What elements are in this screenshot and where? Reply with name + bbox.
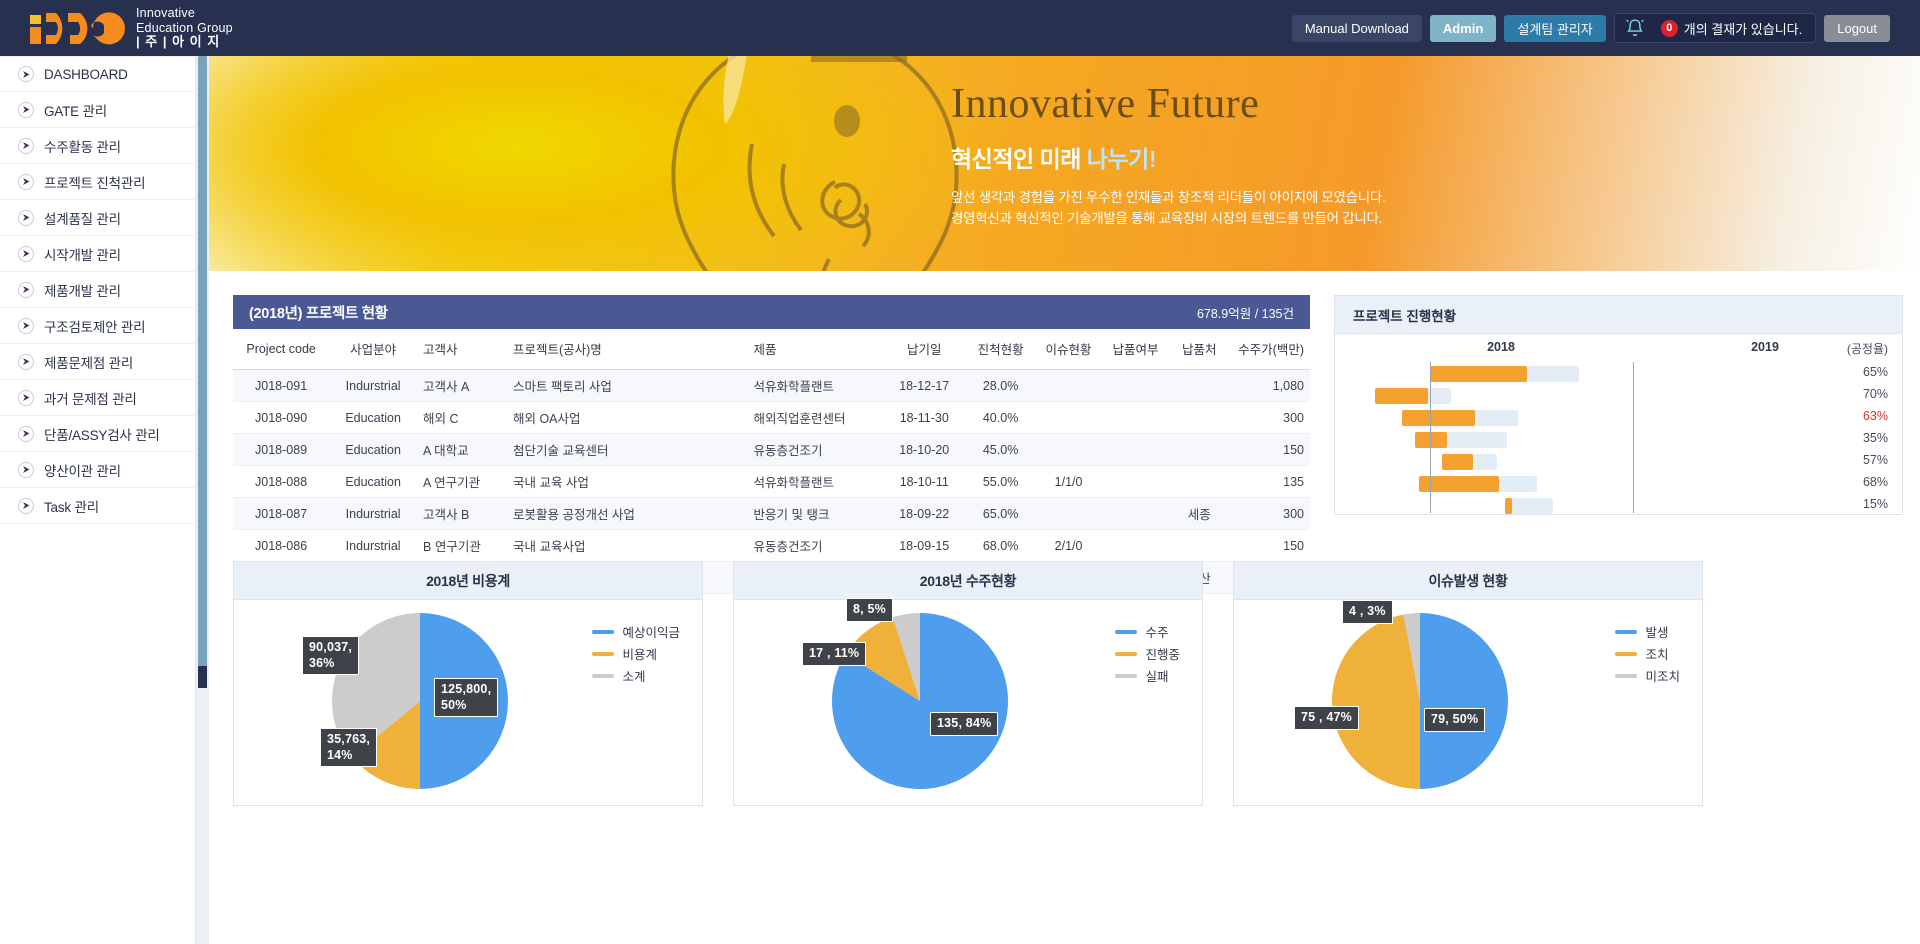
sidebar-item-12[interactable]: Task 관리 <box>0 488 195 524</box>
pie-svg <box>820 608 1020 798</box>
legend-swatch <box>592 630 614 634</box>
gantt-progress-label: 68% <box>1863 475 1888 489</box>
table-row[interactable]: J018-091Indurstrial고객사 A스마트 팩토리 사업석유화학플랜… <box>233 370 1310 402</box>
gantt-progress-label: 35% <box>1863 431 1888 445</box>
cell-field: Indurstrial <box>329 498 417 530</box>
page-filler <box>209 892 1920 944</box>
cell-price: 300 <box>1229 402 1310 434</box>
gantt-year-end: 2019 <box>1751 340 1779 354</box>
sidebar-item-label: Task 관리 <box>44 496 99 516</box>
sidebar-item-label: 시작개발 관리 <box>44 244 121 264</box>
chevron-right-icon <box>18 174 34 190</box>
cell-code: J018-088 <box>233 466 329 498</box>
pie-data-label-1: 35,763, 14% <box>320 728 377 767</box>
cell-product: 반응기 및 탱크 <box>748 498 884 530</box>
gantt-body: 2018 2019 (공정율) 65%70%63%35%57%68%15% <box>1335 334 1902 515</box>
chevron-right-icon <box>18 210 34 226</box>
cell-code: J018-091 <box>233 370 329 402</box>
brand-tagline-line1: Innovative <box>136 6 233 20</box>
banner-description: 앞선 생각과 경험을 가진 우수한 인재들과 창조적 리더들이 아이지에 모였습… <box>951 188 1385 230</box>
cell-delivered <box>1101 498 1170 530</box>
legend-item-0: 예상이익금 <box>592 622 680 641</box>
sidebar-item-11[interactable]: 양산이관 관리 <box>0 452 195 488</box>
cell-issue <box>1036 402 1101 434</box>
cell-issue: 1/1/0 <box>1036 466 1101 498</box>
column-header-10: 수주가(백만) <box>1229 329 1310 370</box>
top-bar: Innovative Education Group | 주 | 아 이 지 M… <box>0 0 1920 56</box>
table-row[interactable]: J018-089EducationA 대학교첨단기술 교육센터유동층건조기18-… <box>233 434 1310 466</box>
cell-client: A 대학교 <box>417 434 507 466</box>
gantt-progress-label: 15% <box>1863 497 1888 511</box>
pie-legend: 발생조치미조치 <box>1615 622 1680 688</box>
pie-panel-header: 이슈발생 현황 <box>1234 562 1702 600</box>
hero-banner: Innovative Future 혁신적인 미래 나누기! 앞선 생각과 경험… <box>209 56 1920 271</box>
sidebar-item-label: 제품문제점 관리 <box>44 352 133 372</box>
banner-heading-ko: 혁신적인 미래 나누기! <box>951 140 1385 174</box>
column-header-6: 진척현황 <box>965 329 1036 370</box>
cell-product: 유동층건조기 <box>748 530 884 562</box>
gantt-row-2: 63% <box>1335 408 1902 428</box>
pie-slice-0[interactable] <box>1420 613 1508 789</box>
cell-due: 18-12-17 <box>883 370 965 402</box>
cell-progress: 55.0% <box>965 466 1036 498</box>
team-manager-button[interactable]: 설계팀 관리자 <box>1504 15 1605 42</box>
cell-delivered <box>1101 530 1170 562</box>
admin-button[interactable]: Admin <box>1430 15 1496 42</box>
cell-place <box>1170 466 1229 498</box>
cell-delivered <box>1101 402 1170 434</box>
gantt-panel-header: 프로젝트 진행현황 <box>1335 296 1902 334</box>
cell-place <box>1170 434 1229 466</box>
gantt-unit-label: (공정율) <box>1847 340 1888 357</box>
legend-item-0: 수주 <box>1115 622 1180 641</box>
legend-label: 수주 <box>1145 622 1168 641</box>
legend-label: 실패 <box>1145 666 1168 685</box>
gantt-row-3: 35% <box>1335 430 1902 450</box>
cell-progress: 40.0% <box>965 402 1036 434</box>
cell-code: J018-089 <box>233 434 329 466</box>
cell-field: Indurstrial <box>329 530 417 562</box>
pie-legend: 예상이익금비용계소계 <box>592 622 680 688</box>
pie-body: 예상이익금비용계소계125,800, 50%35,763, 14%90,037,… <box>234 600 702 805</box>
cell-progress: 45.0% <box>965 434 1036 466</box>
cell-client: A 연구기관 <box>417 466 507 498</box>
sidebar-item-label: 구조검토제안 관리 <box>44 316 145 336</box>
gantt-row-4: 57% <box>1335 452 1902 472</box>
pie-legend: 수주진행중실패 <box>1115 622 1180 688</box>
column-header-4: 제품 <box>748 329 884 370</box>
gantt-year-start: 2018 <box>1487 340 1515 354</box>
sidebar-item-7[interactable]: 구조검토제안 관리 <box>0 308 195 344</box>
column-header-7: 이슈현황 <box>1036 329 1101 370</box>
sidebar-item-label: 설계품질 관리 <box>44 208 121 228</box>
cell-place <box>1170 370 1229 402</box>
legend-item-2: 미조치 <box>1615 666 1680 685</box>
project-table-body: J018-091Indurstrial고객사 A스마트 팩토리 사업석유화학플랜… <box>233 370 1310 594</box>
cell-delivered <box>1101 370 1170 402</box>
table-row[interactable]: J018-086IndurstrialB 연구기관국내 교육사업유동층건조기18… <box>233 530 1310 562</box>
pie-data-label-1: 75 , 47% <box>1294 706 1359 730</box>
gantt-fill <box>1415 432 1447 448</box>
legend-label: 조치 <box>1645 644 1668 663</box>
notification-message[interactable]: 0 개의 결재가 있습니다. <box>1655 19 1815 38</box>
sidebar-item-2[interactable]: 수주활동 관리 <box>0 128 195 164</box>
gantt-fill <box>1442 454 1473 470</box>
cell-product: 유동층건조기 <box>748 434 884 466</box>
cell-name: 첨단기술 교육센터 <box>507 434 748 466</box>
cell-field: Indurstrial <box>329 370 417 402</box>
cell-client: B 연구기관 <box>417 530 507 562</box>
cell-code: J018-090 <box>233 402 329 434</box>
sidebar: DASHBOARDGATE 관리수주활동 관리프로젝트 진척관리설계품질 관리시… <box>0 56 196 944</box>
legend-label: 비용계 <box>622 644 657 663</box>
cell-code: J018-087 <box>233 498 329 530</box>
pie-data-label-0: 79, 50% <box>1424 708 1485 732</box>
project-panel-title: (2018년) 프로젝트 현황 <box>249 302 388 323</box>
pie-chart-panel-2: 이슈발생 현황발생조치미조치79, 50%75 , 47%4 , 3% <box>1233 561 1703 806</box>
cell-due: 18-09-22 <box>883 498 965 530</box>
legend-swatch <box>592 652 614 656</box>
cell-name: 로봇활용 공정개선 사업 <box>507 498 748 530</box>
sidebar-item-label: GATE 관리 <box>44 100 107 120</box>
gantt-panel-title: 프로젝트 진행현황 <box>1353 305 1456 325</box>
pie-data-label-2: 4 , 3% <box>1342 600 1393 624</box>
cell-due: 18-10-20 <box>883 434 965 466</box>
cell-price: 150 <box>1229 434 1310 466</box>
cell-product: 해외직업훈련센터 <box>748 402 884 434</box>
cell-client: 해외 C <box>417 402 507 434</box>
banner-heading-en: Innovative Future <box>951 80 1385 128</box>
page-scrollbar-thumb[interactable] <box>198 56 207 666</box>
chevron-right-icon <box>18 138 34 154</box>
cell-delivered <box>1101 466 1170 498</box>
column-header-2: 고객사 <box>417 329 507 370</box>
gantt-track <box>1505 498 1553 514</box>
cell-price: 1,080 <box>1229 370 1310 402</box>
pie-panel-header: 2018년 수주현황 <box>734 562 1202 600</box>
banner-text-block: Innovative Future 혁신적인 미래 나누기! 앞선 생각과 경험… <box>951 80 1385 230</box>
gantt-fill <box>1505 498 1512 514</box>
gantt-rows: 65%70%63%35%57%68%15% <box>1335 364 1902 518</box>
brand-tagline-line3: | 주 | 아 이 지 <box>136 35 233 50</box>
gantt-axis-tick-0 <box>1430 362 1431 513</box>
cell-client: 고객사 A <box>417 370 507 402</box>
pie-data-label-2: 8, 5% <box>846 598 893 622</box>
gantt-row-0: 65% <box>1335 364 1902 384</box>
legend-label: 미조치 <box>1645 666 1680 685</box>
sidebar-item-label: 수주활동 관리 <box>44 136 121 156</box>
project-table-head: Project code사업분야고객사프로젝트(공사)명제품납기일진척현황이슈현… <box>233 329 1310 370</box>
legend-swatch <box>1115 630 1137 634</box>
gantt-progress-label: 70% <box>1863 387 1888 401</box>
cell-code: J018-086 <box>233 530 329 562</box>
legend-item-1: 진행중 <box>1115 644 1180 663</box>
top-actions: Manual Download Admin 설계팀 관리자 0 개의 결재가 있… <box>1292 13 1920 43</box>
brand-logo[interactable]: Innovative Education Group | 주 | 아 이 지 <box>0 6 233 50</box>
table-row[interactable]: J018-088EducationA 연구기관국내 교육 사업석유화학플랜트18… <box>233 466 1310 498</box>
gantt-fill <box>1402 410 1475 426</box>
column-header-0: Project code <box>233 329 329 370</box>
chevron-right-icon <box>18 354 34 370</box>
bell-icon[interactable] <box>1615 18 1655 39</box>
sidebar-item-10[interactable]: 단품/ASSY검사 관리 <box>0 416 195 452</box>
project-status-panel: (2018년) 프로젝트 현황 678.9억원 / 135건 Project c… <box>233 295 1310 594</box>
sidebar-item-8[interactable]: 제품문제점 관리 <box>0 344 195 380</box>
gantt-row-6: 15% <box>1335 496 1902 516</box>
main-content: Innovative Future 혁신적인 미래 나누기! 앞선 생각과 경험… <box>209 56 1920 944</box>
pie-chart-panel-1: 2018년 수주현황수주진행중실패135, 84%17 , 11%8, 5% <box>733 561 1203 806</box>
sidebar-item-label: 양산이관 관리 <box>44 460 121 480</box>
chevron-right-icon <box>18 282 34 298</box>
legend-label: 예상이익금 <box>622 622 680 641</box>
chevron-right-icon <box>18 462 34 478</box>
pie-slice-1[interactable] <box>1332 615 1420 789</box>
gantt-progress-label: 65% <box>1863 365 1888 379</box>
gantt-fill <box>1375 388 1428 404</box>
cell-name: 국내 교육사업 <box>507 530 748 562</box>
cell-name: 해외 OA사업 <box>507 402 748 434</box>
project-progress-panel: 프로젝트 진행현황 2018 2019 (공정율) 65%70%63%35%57… <box>1334 295 1903 515</box>
chevron-right-icon <box>18 426 34 442</box>
cell-product: 석유화학플랜트 <box>748 466 884 498</box>
gantt-progress-label: 63% <box>1863 409 1888 423</box>
manual-download-button[interactable]: Manual Download <box>1292 15 1422 42</box>
pie-data-label-2: 90,037, 36% <box>302 636 359 675</box>
sidebar-item-0[interactable]: DASHBOARD <box>0 56 195 92</box>
pie-body: 수주진행중실패135, 84%17 , 11%8, 5% <box>734 600 1202 805</box>
cell-issue <box>1036 498 1101 530</box>
chevron-right-icon <box>18 318 34 334</box>
banner-desc-line2: 경영혁신과 혁신적인 기술개발을 통해 교육장비 시장의 트렌드를 만들어 갑니… <box>951 209 1385 230</box>
legend-swatch <box>1615 652 1637 656</box>
pie-panel-title: 2018년 수주현황 <box>920 571 1016 591</box>
logout-button[interactable]: Logout <box>1824 15 1890 42</box>
cell-delivered <box>1101 434 1170 466</box>
pie-data-label-0: 135, 84% <box>930 712 998 736</box>
chevron-right-icon <box>18 102 34 118</box>
column-header-3: 프로젝트(공사)명 <box>507 329 748 370</box>
cell-price: 135 <box>1229 466 1310 498</box>
legend-label: 소계 <box>622 666 645 685</box>
cell-product: 석유화학플랜트 <box>748 370 884 402</box>
column-header-1: 사업분야 <box>329 329 417 370</box>
gantt-fill <box>1419 476 1499 492</box>
sidebar-item-3[interactable]: 프로젝트 진척관리 <box>0 164 195 200</box>
cell-due: 18-11-30 <box>883 402 965 434</box>
legend-swatch <box>1615 674 1637 678</box>
gantt-progress-label: 57% <box>1863 453 1888 467</box>
cell-progress: 68.0% <box>965 530 1036 562</box>
legend-swatch <box>1115 674 1137 678</box>
pie-panel-header: 2018년 비용계 <box>234 562 702 600</box>
legend-item-2: 실패 <box>1115 666 1180 685</box>
legend-item-2: 소계 <box>592 666 680 685</box>
cell-name: 국내 교육 사업 <box>507 466 748 498</box>
table-row[interactable]: J018-087Indurstrial고객사 B로봇활용 공정개선 사업반응기 … <box>233 498 1310 530</box>
sidebar-item-5[interactable]: 시작개발 관리 <box>0 236 195 272</box>
cell-field: Education <box>329 466 417 498</box>
legend-label: 진행중 <box>1145 644 1180 663</box>
banner-desc-line1: 앞선 생각과 경험을 가진 우수한 인재들과 창조적 리더들이 아이지에 모였습… <box>951 188 1385 209</box>
cell-field: Education <box>329 402 417 434</box>
cell-due: 18-10-11 <box>883 466 965 498</box>
cell-place <box>1170 530 1229 562</box>
chevron-right-icon <box>18 246 34 262</box>
gantt-fill <box>1430 366 1527 382</box>
pie-panel-title: 2018년 비용계 <box>426 571 510 591</box>
banner-heading-ko-accent: 나누기! <box>1087 146 1156 172</box>
gantt-row-1: 70% <box>1335 386 1902 406</box>
page-scrollbar[interactable] <box>196 56 209 944</box>
cell-place <box>1170 402 1229 434</box>
sidebar-item-6[interactable]: 제품개발 관리 <box>0 272 195 308</box>
legend-swatch <box>1615 630 1637 634</box>
pie-svg <box>1320 608 1520 798</box>
cell-field: Education <box>329 434 417 466</box>
cell-price: 150 <box>1229 530 1310 562</box>
table-row[interactable]: J018-090Education해외 C해외 OA사업해외직업훈련센터18-1… <box>233 402 1310 434</box>
cell-progress: 65.0% <box>965 498 1036 530</box>
sidebar-item-label: 단품/ASSY검사 관리 <box>44 424 160 444</box>
brand-tagline: Innovative Education Group | 주 | 아 이 지 <box>136 6 233 50</box>
pie-data-label-1: 17 , 11% <box>802 642 866 666</box>
cell-issue <box>1036 370 1101 402</box>
banner-heading-ko-main: 혁신적인 미래 <box>951 146 1087 172</box>
cell-name: 스마트 팩토리 사업 <box>507 370 748 402</box>
column-header-5: 납기일 <box>883 329 965 370</box>
cell-progress: 28.0% <box>965 370 1036 402</box>
sidebar-item-4[interactable]: 설계품질 관리 <box>0 200 195 236</box>
pie-data-label-0: 125,800, 50% <box>434 678 498 717</box>
idg-logo-icon <box>30 11 126 45</box>
legend-item-0: 발생 <box>1615 622 1680 641</box>
project-panel-summary: 678.9억원 / 135건 <box>1197 303 1294 322</box>
cell-due: 18-09-15 <box>883 530 965 562</box>
cell-client: 고객사 B <box>417 498 507 530</box>
cell-place: 세종 <box>1170 498 1229 530</box>
pie-panel-title: 이슈발생 현황 <box>1428 571 1507 591</box>
cell-issue <box>1036 434 1101 466</box>
project-table: Project code사업분야고객사프로젝트(공사)명제품납기일진척현황이슈현… <box>233 329 1310 594</box>
legend-swatch <box>1115 652 1137 656</box>
notification-text: 개의 결재가 있습니다. <box>1684 19 1802 38</box>
sidebar-item-label: DASHBOARD <box>44 67 128 82</box>
project-panel-header: (2018년) 프로젝트 현황 678.9억원 / 135건 <box>233 295 1310 329</box>
sidebar-item-9[interactable]: 과거 문제점 관리 <box>0 380 195 416</box>
notification-count-badge: 0 <box>1661 20 1678 37</box>
legend-item-1: 조치 <box>1615 644 1680 663</box>
notification-group[interactable]: 0 개의 결재가 있습니다. <box>1614 13 1816 43</box>
cell-price: 300 <box>1229 498 1310 530</box>
pie-chart-panel-0: 2018년 비용계예상이익금비용계소계125,800, 50%35,763, 1… <box>233 561 703 806</box>
chevron-right-icon <box>18 498 34 514</box>
gantt-axis: 2018 2019 (공정율) <box>1335 334 1902 362</box>
table-header-row: Project code사업분야고객사프로젝트(공사)명제품납기일진척현황이슈현… <box>233 329 1310 370</box>
chevron-right-icon <box>18 390 34 406</box>
brand-tagline-line2: Education Group <box>136 21 233 35</box>
cell-issue: 2/1/0 <box>1036 530 1101 562</box>
sidebar-item-label: 프로젝트 진척관리 <box>44 172 145 192</box>
legend-label: 발생 <box>1645 622 1668 641</box>
gantt-axis-tick-1 <box>1633 362 1634 513</box>
column-header-8: 납품여부 <box>1101 329 1170 370</box>
pie-charts-row: 2018년 비용계예상이익금비용계소계125,800, 50%35,763, 1… <box>233 561 1903 806</box>
legend-swatch <box>592 674 614 678</box>
gantt-row-5: 68% <box>1335 474 1902 494</box>
legend-item-1: 비용계 <box>592 644 680 663</box>
sidebar-item-label: 과거 문제점 관리 <box>44 388 137 408</box>
chevron-right-icon <box>18 66 34 82</box>
pie-body: 발생조치미조치79, 50%75 , 47%4 , 3% <box>1234 600 1702 805</box>
column-header-9: 납품처 <box>1170 329 1229 370</box>
sidebar-item-label: 제품개발 관리 <box>44 280 121 300</box>
sidebar-item-1[interactable]: GATE 관리 <box>0 92 195 128</box>
